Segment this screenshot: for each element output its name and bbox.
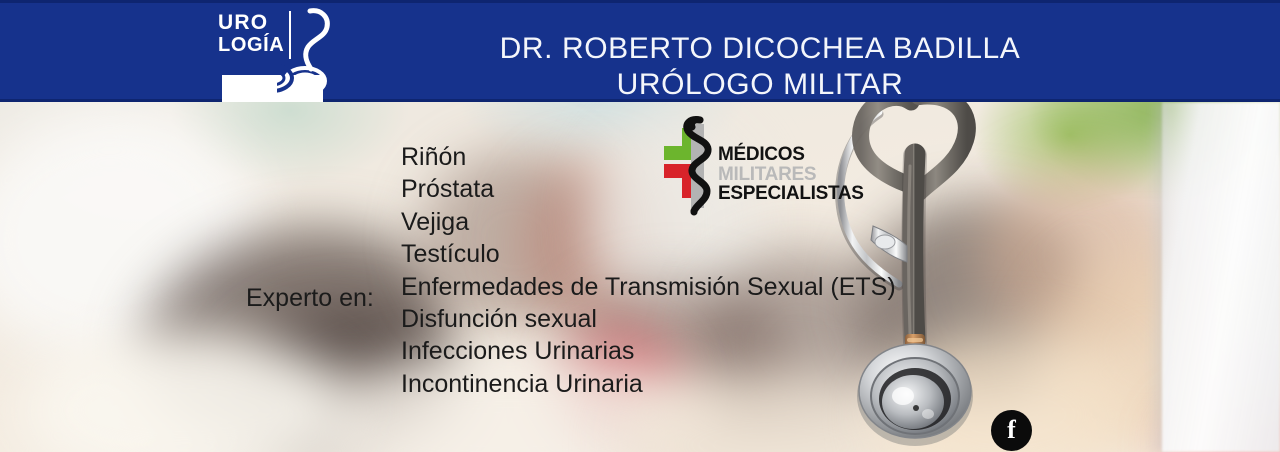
list-item: Infecciones Urinarias — [401, 335, 896, 367]
partner-logo-line2: MILITARES — [718, 165, 864, 185]
list-item: Testículo — [401, 238, 896, 270]
facebook-link[interactable]: f — [991, 410, 1032, 451]
urologia-logo-text: URO LOGÍA — [218, 11, 284, 57]
partner-logo-text: MÉDICOS MILITARES ESPECIALISTAS — [718, 145, 864, 204]
doctor-name: DR. ROBERTO DICOCHEA BADILLA — [500, 32, 1021, 65]
list-item: Enfermedades de Transmisión Sexual (ETS) — [401, 271, 896, 303]
partner-logo-line1: MÉDICOS — [718, 145, 864, 165]
doctor-specialty: URÓLOGO MILITAR — [330, 67, 1190, 103]
clinic-banner: Experto en: Riñón Próstata Vejiga Testíc… — [0, 0, 1280, 452]
urologia-logo-line2: LOGÍA — [218, 34, 284, 57]
urologia-logo-line1: URO — [218, 11, 268, 34]
expertise-label: Experto en: — [246, 284, 374, 313]
partner-logo-line3: ESPECIALISTAS — [718, 184, 864, 204]
partner-logo[interactable]: MÉDICOS MILITARES ESPECIALISTAS — [660, 116, 855, 216]
list-item: Incontinencia Urinaria — [401, 368, 896, 400]
facebook-icon: f — [991, 410, 1032, 451]
list-item: Disfunción sexual — [401, 303, 896, 335]
logo-white-plate — [222, 75, 323, 102]
caduceus-cross-icon — [660, 116, 718, 216]
lab-coat — [1162, 102, 1280, 452]
site-header: URO LOGÍA DR. ROBERTO DICOCHEA BADILLA U… — [0, 0, 1280, 102]
page-title: DR. ROBERTO DICOCHEA BADILLA URÓLOGO MIL… — [330, 31, 1190, 103]
